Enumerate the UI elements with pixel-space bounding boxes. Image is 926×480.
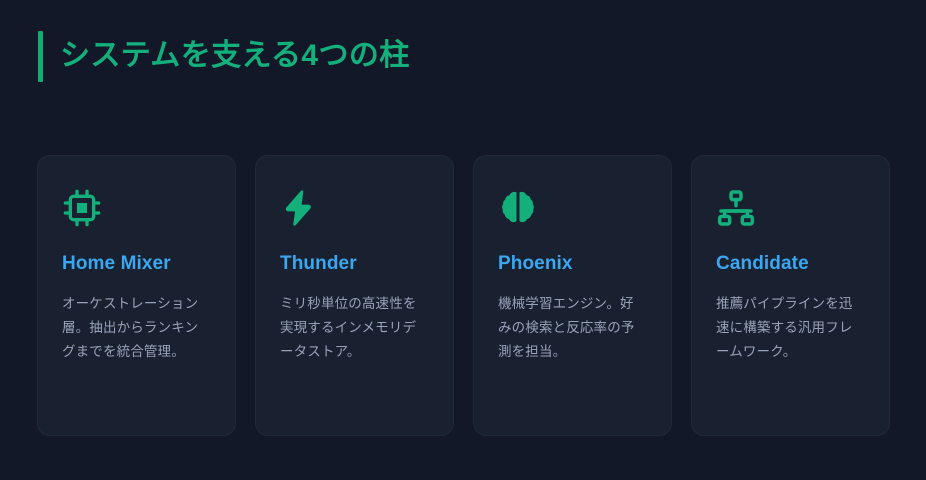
sitemap-network-icon (716, 188, 756, 228)
pillar-title: Home Mixer (62, 253, 211, 276)
brain-icon (498, 188, 538, 228)
pillar-title: Candidate (716, 253, 865, 276)
pillar-card-thunder[interactable]: Thunder ミリ秒単位の高速性を実現するインメモリデータストア。 (255, 155, 454, 436)
pillar-title: Thunder (280, 253, 429, 276)
pillar-card-phoenix[interactable]: Phoenix 機械学習エンジン。好みの検索と反応率の予測を担当。 (473, 155, 672, 436)
pillar-title: Phoenix (498, 253, 647, 276)
cpu-chip-icon (62, 188, 102, 228)
pillars-page: システムを支える4つの柱 Home Mixer オーケストレーション層。抽出から… (0, 0, 926, 480)
pillar-description: オーケストレーション層。抽出からランキングまでを統合管理。 (62, 292, 211, 364)
title-accent-bar (38, 31, 43, 82)
lightning-bolt-icon (280, 188, 320, 228)
pillar-description: 推薦パイプラインを迅速に構築する汎用フレームワーク。 (716, 292, 865, 364)
pillar-card-candidate[interactable]: Candidate 推薦パイプラインを迅速に構築する汎用フレームワーク。 (691, 155, 890, 436)
pillar-card-grid: Home Mixer オーケストレーション層。抽出からランキングまでを統合管理。… (37, 155, 890, 436)
pillar-description: ミリ秒単位の高速性を実現するインメモリデータストア。 (280, 292, 429, 364)
pillar-description: 機械学習エンジン。好みの検索と反応率の予測を担当。 (498, 292, 647, 364)
page-title: システムを支える4つの柱 (60, 39, 410, 74)
pillar-card-home-mixer[interactable]: Home Mixer オーケストレーション層。抽出からランキングまでを統合管理。 (37, 155, 236, 436)
page-header: システムを支える4つの柱 (38, 31, 410, 82)
